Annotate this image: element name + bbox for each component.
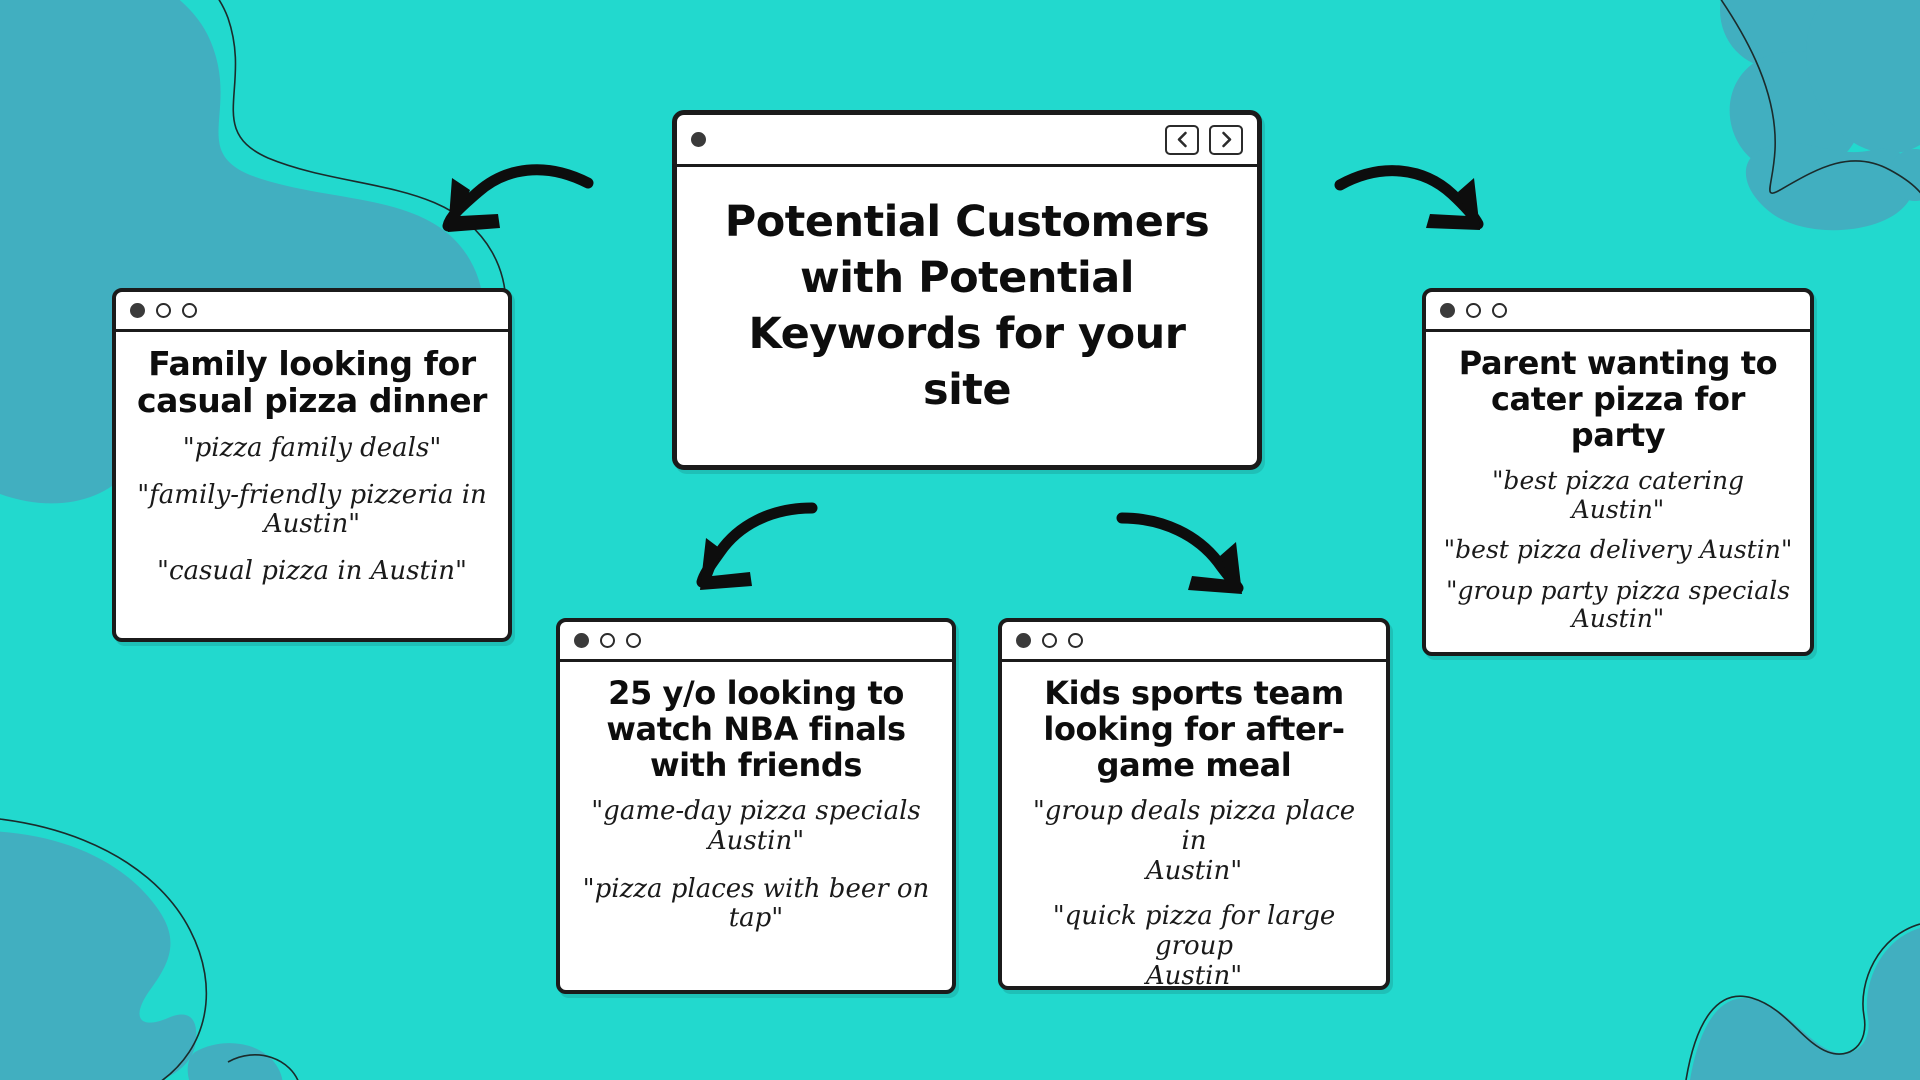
keyword-list: "best pizza catering Austin" "best pizza…	[1442, 467, 1794, 634]
window-dot-filled-icon	[1440, 303, 1455, 318]
keyword-item: "quick pizza for large group Austin"	[1018, 902, 1370, 991]
persona-title: Parent wanting to cater pizza for party	[1442, 346, 1794, 453]
blob-bottom-left-outline	[0, 816, 206, 1080]
forward-button[interactable]	[1209, 125, 1243, 155]
window-dot-hollow-icon	[182, 303, 197, 318]
card-body: Kids sports team looking for after-game …	[1002, 662, 1386, 1007]
hero-window-dots	[691, 132, 706, 147]
persona-card-family: Family looking for casual pizza dinner "…	[112, 288, 512, 642]
window-dot-filled-icon	[691, 132, 706, 147]
keyword-item: "group party pizza specials Austin"	[1446, 577, 1790, 634]
keyword-item: "family-friendly pizzeria in Austin"	[137, 481, 487, 540]
keyword-item: "best pizza delivery Austin"	[1444, 536, 1793, 565]
window-dot-filled-icon	[574, 633, 589, 648]
window-dot-filled-icon	[130, 303, 145, 318]
arrow-to-kids-card	[1122, 518, 1242, 594]
blob-bottom-left-small-outline	[228, 1055, 300, 1080]
blob-top-right-4	[1746, 143, 1915, 230]
blob-line-top-right	[1700, 0, 1920, 206]
persona-card-nba: 25 y/o looking to watch NBA finals with …	[556, 618, 956, 994]
card-titlebar	[1426, 292, 1810, 332]
card-body: 25 y/o looking to watch NBA finals with …	[560, 662, 952, 990]
back-button[interactable]	[1165, 125, 1199, 155]
persona-title: Kids sports team looking for after-game …	[1018, 676, 1370, 783]
window-dot-hollow-icon	[1068, 633, 1083, 648]
keyword-item: "pizza family deals"	[183, 434, 442, 464]
keyword-item: "casual pizza in Austin"	[157, 557, 467, 587]
window-dot-filled-icon	[1016, 633, 1031, 648]
chevron-left-icon	[1175, 131, 1190, 148]
hero-body: Potential Customers with Potential Keywo…	[677, 167, 1257, 465]
blob-bottom-left	[0, 831, 196, 1080]
keyword-list: "game-day pizza specials Austin" "pizza …	[576, 797, 936, 934]
blob-bottom-right	[1690, 928, 1920, 1080]
blob-top-right-3	[1784, 0, 1920, 173]
blob-top-right-2	[1730, 51, 1863, 174]
blob-bottom-left-small	[188, 1043, 283, 1080]
arrow-to-parent-card	[1340, 171, 1480, 230]
arrow-to-family-card	[448, 170, 588, 232]
keyword-item: "game-day pizza specials Austin"	[591, 797, 921, 856]
persona-card-kids: Kids sports team looking for after-game …	[998, 618, 1390, 990]
window-dot-hollow-icon	[1466, 303, 1481, 318]
card-body: Family looking for casual pizza dinner "…	[116, 332, 508, 638]
arrow-to-nba-card	[700, 508, 812, 590]
window-dots	[1440, 303, 1507, 318]
card-body: Parent wanting to cater pizza for party …	[1426, 332, 1810, 652]
window-dots	[574, 633, 641, 648]
window-dot-hollow-icon	[600, 633, 615, 648]
card-titlebar	[116, 292, 508, 332]
window-dot-hollow-icon	[156, 303, 171, 318]
blob-top-right-1	[1720, 0, 1830, 68]
window-dots	[130, 303, 197, 318]
persona-title: 25 y/o looking to watch NBA finals with …	[576, 676, 936, 783]
persona-title: Family looking for casual pizza dinner	[132, 346, 492, 420]
hero-window: Potential Customers with Potential Keywo…	[672, 110, 1262, 470]
keyword-list: "pizza family deals" "family-friendly pi…	[132, 434, 492, 587]
hero-title: Potential Customers with Potential Keywo…	[705, 195, 1229, 419]
window-dot-hollow-icon	[1042, 633, 1057, 648]
keyword-item: "best pizza catering Austin"	[1442, 467, 1794, 524]
keyword-item: "pizza places with beer on tap"	[576, 875, 936, 934]
card-titlebar	[560, 622, 952, 662]
hero-nav-buttons	[1165, 125, 1243, 155]
blob-top-right-5	[1889, 149, 1920, 201]
chevron-right-icon	[1219, 131, 1234, 148]
blob-bottom-right-outline	[1686, 924, 1920, 1080]
window-dot-hollow-icon	[626, 633, 641, 648]
card-titlebar	[1002, 622, 1386, 662]
keyword-item: "group deals pizza place in Austin"	[1018, 797, 1370, 886]
keyword-list: "group deals pizza place in Austin" "qui…	[1018, 797, 1370, 991]
persona-card-parent: Parent wanting to cater pizza for party …	[1422, 288, 1814, 656]
window-dot-hollow-icon	[1492, 303, 1507, 318]
hero-titlebar	[677, 115, 1257, 167]
window-dots	[1016, 633, 1083, 648]
